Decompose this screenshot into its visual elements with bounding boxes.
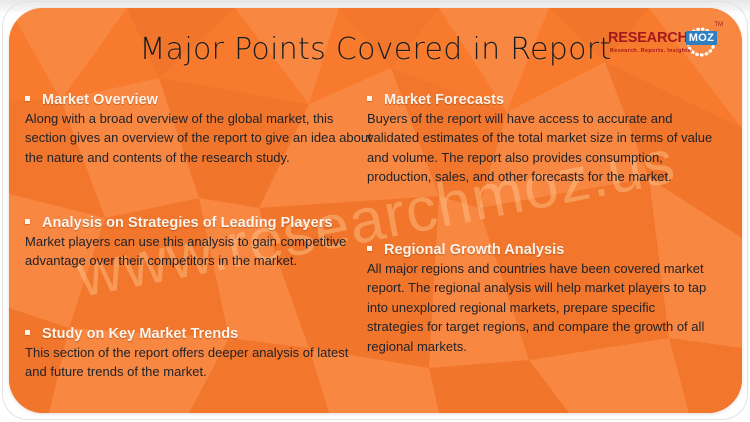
point-body: Market players can use this analysis to …: [25, 232, 373, 271]
trademark-icon: TM: [714, 22, 723, 28]
bullet-square-icon: [367, 96, 372, 101]
point-body: Along with a broad overview of the globa…: [25, 109, 373, 167]
logo-word-moz: MOZ: [686, 31, 717, 45]
slide-frame: www.researchmoz.us Major Points Covered …: [0, 0, 750, 422]
slide-card: www.researchmoz.us Major Points Covered …: [9, 8, 742, 413]
logo-word-research: RESEARCH: [608, 30, 688, 46]
point-key-market-trends: Study on Key Market Trends This section …: [25, 326, 373, 382]
point-regional-growth: Regional Growth Analysis All major regio…: [367, 242, 715, 356]
bullet-square-icon: [25, 219, 30, 224]
point-heading: Analysis on Strategies of Leading Player…: [25, 215, 373, 231]
point-heading: Study on Key Market Trends: [25, 326, 373, 342]
point-heading: Market Forecasts: [367, 92, 715, 108]
point-body: This section of the report offers deeper…: [25, 343, 373, 382]
content-area: Market Overview Along with a broad overv…: [9, 82, 742, 412]
bullet-square-icon: [367, 246, 372, 251]
point-body: All major regions and countries have bee…: [367, 259, 715, 356]
point-market-overview: Market Overview Along with a broad overv…: [25, 92, 373, 167]
point-heading-label: Study on Key Market Trends: [42, 326, 238, 342]
point-analysis-strategies: Analysis on Strategies of Leading Player…: [25, 215, 373, 271]
point-heading-label: Market Overview: [42, 92, 158, 108]
point-heading-label: Regional Growth Analysis: [384, 242, 564, 258]
point-heading-label: Market Forecasts: [384, 92, 504, 108]
point-heading: Regional Growth Analysis: [367, 242, 715, 258]
bullet-square-icon: [25, 330, 30, 335]
researchmoz-logo[interactable]: TM RESEARCH MOZ Research. Reports. Insig…: [608, 20, 724, 62]
point-heading: Market Overview: [25, 92, 373, 108]
bullet-square-icon: [25, 96, 30, 101]
logo-tagline: Research. Reports. Insights.: [610, 48, 693, 54]
point-heading-label: Analysis on Strategies of Leading Player…: [42, 215, 333, 231]
point-market-forecasts: Market Forecasts Buyers of the report wi…: [367, 92, 715, 187]
point-body: Buyers of the report will have access to…: [367, 109, 715, 187]
